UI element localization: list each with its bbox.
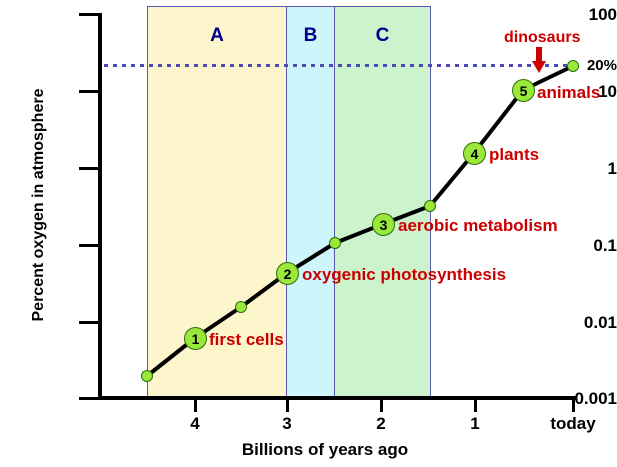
data-point-5-animals: 5: [512, 79, 535, 102]
data-point-2-oxygenic-photosynthesis: 2: [276, 262, 299, 285]
annotation-label-aerobic-metabolism: aerobic metabolism: [398, 217, 558, 234]
data-point-6: [424, 200, 436, 212]
data-point-4-plants: 4: [463, 142, 486, 165]
data-point-3-aerobic-metabolism: 3: [372, 213, 395, 236]
annotation-label-oxygenic-photosynthesis: oxygenic photosynthesis: [302, 266, 506, 283]
annotation-label-plants: plants: [489, 146, 539, 163]
data-point-5-number: 5: [520, 83, 528, 99]
data-point-4: [329, 237, 341, 249]
data-point-3-number: 3: [380, 217, 388, 233]
annotation-label-dinosaurs: dinosaurs: [504, 29, 580, 47]
data-point-0: [141, 370, 153, 382]
data-point-9: [567, 60, 579, 72]
data-point-4-number: 4: [471, 146, 479, 162]
annotation-label-first-cells: first cells: [209, 331, 284, 348]
annotation-label-animals: animals: [537, 84, 600, 101]
chart-canvas: A B C 100 10 1 0.1 0.01 0.001 20% 4 3 2 …: [0, 0, 617, 467]
dinosaurs-arrow-icon: [532, 47, 546, 73]
data-point-1-number: 1: [192, 331, 200, 347]
data-point-2: [235, 301, 247, 313]
data-point-2-number: 2: [284, 266, 292, 282]
data-point-1-first-cells: 1: [184, 327, 207, 350]
